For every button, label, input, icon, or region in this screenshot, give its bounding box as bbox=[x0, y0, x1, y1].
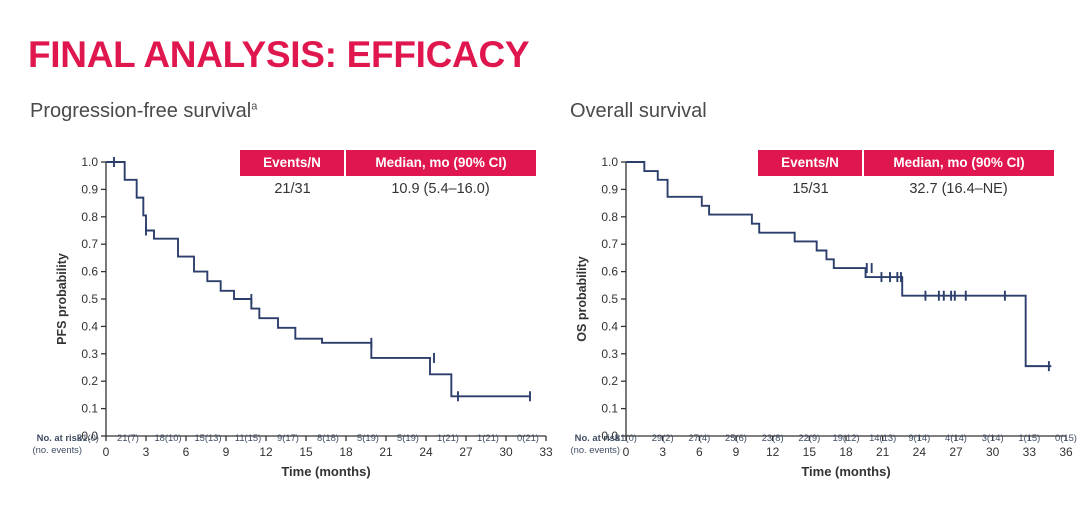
y-tick-label: 0.7 bbox=[81, 237, 98, 251]
x-tick-label: 15 bbox=[803, 445, 817, 459]
at-risk-value: 1(21) bbox=[468, 432, 508, 443]
y-axis-label: PFS probability bbox=[55, 253, 69, 345]
y-tick-label: 0.6 bbox=[81, 265, 98, 279]
y-tick-label: 0.7 bbox=[601, 237, 618, 251]
x-tick-label: 27 bbox=[459, 445, 473, 459]
pfs-panel-title: Progression-free survivala bbox=[30, 100, 257, 123]
y-tick-label: 0.4 bbox=[601, 319, 618, 333]
x-tick-label: 6 bbox=[696, 445, 703, 459]
km-step-curve bbox=[626, 162, 1051, 366]
x-tick-label: 24 bbox=[419, 445, 433, 459]
at-risk-value: 22(9) bbox=[789, 432, 829, 443]
km-step-curve bbox=[106, 162, 530, 396]
at-risk-value: 29(2) bbox=[643, 432, 683, 443]
y-tick-label: 0.4 bbox=[81, 319, 98, 333]
at-risk-value: 3(14) bbox=[973, 432, 1013, 443]
at-risk-value: 1(21) bbox=[428, 432, 468, 443]
x-tick-label: 27 bbox=[949, 445, 963, 459]
os-km-curve-svg: 0.00.10.20.30.40.50.60.70.80.91.00369121… bbox=[558, 148, 1078, 498]
panel-progression-free-survival: Progression-free survivala Events/N Medi… bbox=[18, 100, 558, 520]
y-tick-label: 1.0 bbox=[601, 155, 618, 169]
os-plot: 0.00.10.20.30.40.50.60.70.80.91.00369121… bbox=[558, 148, 1078, 498]
at-risk-value: 9(17) bbox=[268, 432, 308, 443]
x-tick-label: 12 bbox=[766, 445, 780, 459]
x-tick-label: 33 bbox=[1023, 445, 1037, 459]
at-risk-value: 9(14) bbox=[899, 432, 939, 443]
x-tick-label: 9 bbox=[223, 445, 230, 459]
at-risk-value: 19(12) bbox=[826, 432, 866, 443]
x-tick-label: 3 bbox=[143, 445, 150, 459]
pfs-title-footnote-marker: a bbox=[251, 100, 257, 112]
at-risk-value: 1(15) bbox=[1009, 432, 1049, 443]
at-risk-value: 0(15) bbox=[1046, 432, 1080, 443]
at-risk-value: 4(14) bbox=[936, 432, 976, 443]
y-tick-label: 1.0 bbox=[81, 155, 98, 169]
at-risk-value: 5(19) bbox=[388, 432, 428, 443]
panel-overall-survival: Overall survival Events/N Median, mo (90… bbox=[558, 100, 1078, 520]
x-tick-label: 21 bbox=[379, 445, 393, 459]
at-risk-value: 11(15) bbox=[228, 432, 268, 443]
y-tick-label: 0.2 bbox=[81, 374, 98, 388]
x-tick-label: 21 bbox=[876, 445, 890, 459]
y-tick-label: 0.5 bbox=[81, 292, 98, 306]
x-tick-label: 9 bbox=[733, 445, 740, 459]
slide-root: FINAL ANALYSIS: EFFICACY Progression-fre… bbox=[0, 0, 1080, 527]
x-tick-label: 30 bbox=[499, 445, 513, 459]
x-tick-label: 36 bbox=[1059, 445, 1073, 459]
y-tick-label: 0.1 bbox=[601, 402, 618, 416]
os-at-risk-label-line2: (no. events) bbox=[570, 444, 620, 455]
at-risk-value: 0(21) bbox=[508, 432, 548, 443]
x-tick-label: 18 bbox=[839, 445, 853, 459]
at-risk-value: 27(4) bbox=[679, 432, 719, 443]
at-risk-value: 21(7) bbox=[108, 432, 148, 443]
at-risk-value: 15(13) bbox=[188, 432, 228, 443]
pfs-plot: 0.00.10.20.30.40.50.60.70.80.91.00369121… bbox=[18, 148, 558, 498]
pfs-panel-title-text: Progression-free survival bbox=[30, 100, 251, 122]
y-tick-label: 0.5 bbox=[601, 292, 618, 306]
x-tick-label: 30 bbox=[986, 445, 1000, 459]
y-tick-label: 0.8 bbox=[81, 210, 98, 224]
page-title: FINAL ANALYSIS: EFFICACY bbox=[28, 34, 529, 76]
x-tick-label: 24 bbox=[913, 445, 927, 459]
x-tick-label: 0 bbox=[103, 445, 110, 459]
at-risk-value: 8(18) bbox=[308, 432, 348, 443]
pfs-at-risk-label-line2: (no. events) bbox=[32, 444, 82, 455]
x-tick-label: 6 bbox=[183, 445, 190, 459]
y-axis-label: OS probability bbox=[575, 256, 589, 341]
y-tick-label: 0.3 bbox=[81, 347, 98, 361]
at-risk-value: 23(8) bbox=[753, 432, 793, 443]
y-tick-label: 0.9 bbox=[601, 182, 618, 196]
pfs-km-curve-svg: 0.00.10.20.30.40.50.60.70.80.91.00369121… bbox=[18, 148, 558, 498]
y-tick-label: 0.8 bbox=[601, 210, 618, 224]
at-risk-value: 31(0) bbox=[606, 432, 646, 443]
x-tick-label: 3 bbox=[659, 445, 666, 459]
x-tick-label: 12 bbox=[259, 445, 273, 459]
x-axis-label: Time (months) bbox=[281, 464, 370, 479]
at-risk-value: 18(10) bbox=[148, 432, 188, 443]
y-tick-label: 0.2 bbox=[601, 374, 618, 388]
at-risk-value: 31(0) bbox=[68, 432, 108, 443]
os-panel-title: Overall survival bbox=[570, 100, 707, 123]
x-tick-label: 18 bbox=[339, 445, 353, 459]
at-risk-value: 5(19) bbox=[348, 432, 388, 443]
y-tick-label: 0.6 bbox=[601, 265, 618, 279]
at-risk-value: 25(6) bbox=[716, 432, 756, 443]
x-axis-label: Time (months) bbox=[801, 464, 890, 479]
os-panel-title-text: Overall survival bbox=[570, 100, 707, 122]
x-tick-label: 0 bbox=[623, 445, 630, 459]
y-tick-label: 0.3 bbox=[601, 347, 618, 361]
at-risk-value: 14(13) bbox=[863, 432, 903, 443]
y-tick-label: 0.1 bbox=[81, 402, 98, 416]
y-tick-label: 0.9 bbox=[81, 182, 98, 196]
x-tick-label: 15 bbox=[299, 445, 313, 459]
